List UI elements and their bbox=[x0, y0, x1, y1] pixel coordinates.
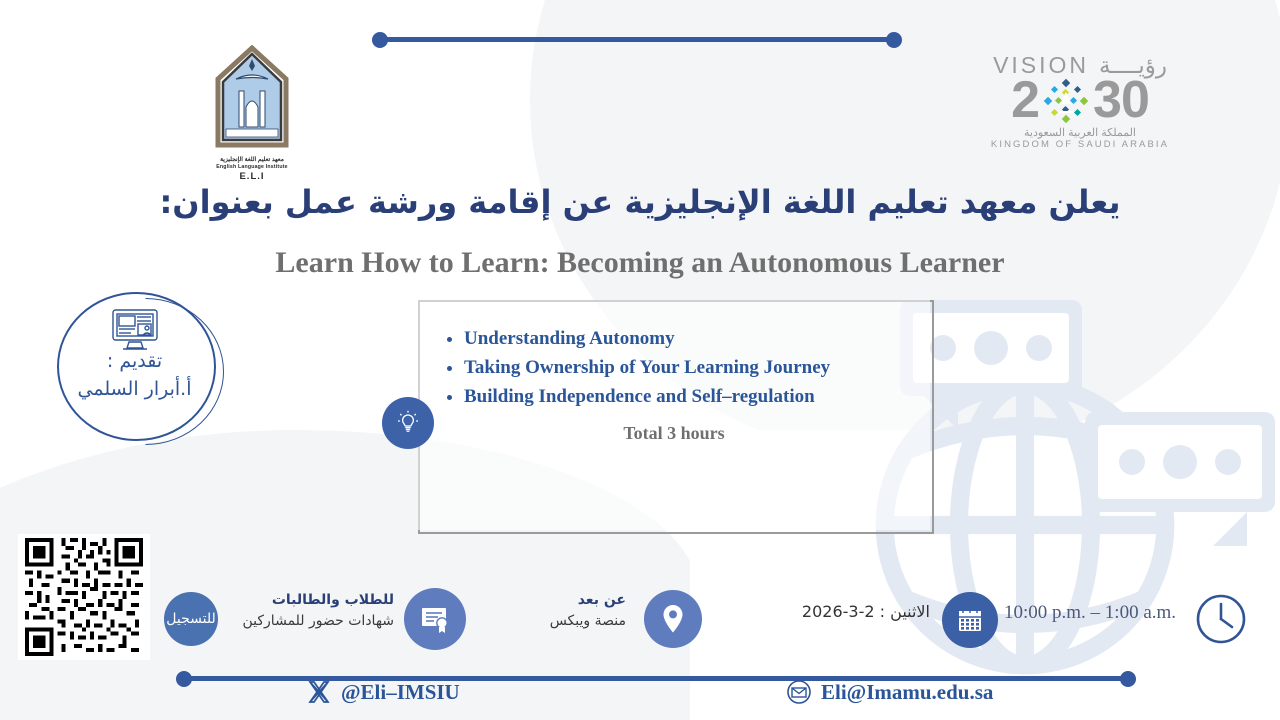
eli-logo-caption: معهد تعليم اللغة الإنجليزية English Lang… bbox=[208, 156, 296, 184]
workshop-title: Learn How to Learn: Becoming an Autonomo… bbox=[0, 246, 1280, 280]
mode-info: عن بعد منصة ويبكس bbox=[516, 590, 626, 632]
envelope-icon bbox=[786, 679, 812, 705]
topics-list: Understanding Autonomy Taking Ownership … bbox=[438, 325, 938, 412]
top-divider-line bbox=[372, 32, 902, 48]
eli-logo: معهد تعليم اللغة الإنجليزية English Lang… bbox=[208, 45, 296, 173]
location-pin-icon bbox=[644, 590, 702, 648]
eli-abbrev: E.L.I bbox=[208, 171, 296, 184]
date-text: الاثنين : 2-3-2026 bbox=[760, 602, 930, 621]
presenter-name: أ.أبرار السلمي bbox=[57, 378, 212, 400]
mode-line-2: منصة ويبكس bbox=[516, 611, 626, 632]
qr-code[interactable] bbox=[18, 534, 150, 660]
vision-2030-logo: VISION رؤيــــة 2 bbox=[975, 52, 1185, 157]
audience-info: للطلاب والطالبات شهادات حضور للمشاركين bbox=[222, 590, 394, 632]
presenter-badge: تقديم : أ.أبرار السلمي bbox=[57, 292, 222, 447]
vision-number-left: 2 bbox=[1011, 76, 1039, 125]
presentation-monitor-icon bbox=[109, 308, 161, 352]
qr-code-image bbox=[22, 538, 146, 656]
time-text: 10:00 p.m. – 1:00 a.m. bbox=[1004, 602, 1189, 624]
footer-divider-dot-right bbox=[1120, 671, 1136, 687]
eli-shield-icon bbox=[212, 45, 292, 150]
x-twitter-icon bbox=[306, 679, 332, 705]
vision-number-right: 30 bbox=[1093, 76, 1149, 125]
registration-badge[interactable]: للتسجيل bbox=[164, 592, 218, 646]
vision-word-english: VISION bbox=[993, 52, 1089, 79]
audience-line-1: للطلاب والطالبات bbox=[222, 590, 394, 611]
presenter-label: تقديم : bbox=[57, 350, 212, 372]
eli-caption-arabic: معهد تعليم اللغة الإنجليزية bbox=[208, 156, 296, 164]
vision-kingdom-arabic: المملكة العربية السعودية bbox=[975, 126, 1185, 139]
workshop-poster: معهد تعليم اللغة الإنجليزية English Lang… bbox=[0, 0, 1280, 720]
mode-line-1: عن بعد bbox=[516, 590, 626, 611]
registration-badge-label: للتسجيل bbox=[166, 611, 215, 627]
certificate-icon bbox=[404, 588, 466, 650]
audience-line-2: شهادات حضور للمشاركين bbox=[222, 611, 394, 632]
email-handle[interactable]: Eli@Imamu.edu.sa bbox=[786, 679, 993, 705]
email-handle-text: Eli@Imamu.edu.sa bbox=[821, 680, 993, 705]
twitter-handle-text: @Eli–IMSIU bbox=[341, 680, 460, 705]
twitter-handle[interactable]: @Eli–IMSIU bbox=[306, 679, 460, 705]
eli-caption-english: English Language Institute bbox=[208, 164, 296, 171]
clock-icon bbox=[1194, 592, 1248, 646]
list-item: Taking Ownership of Your Learning Journe… bbox=[464, 354, 938, 383]
vision-palm-emblem-icon bbox=[1043, 78, 1089, 124]
speech-bubble-watermark-2 bbox=[1085, 412, 1275, 512]
lightbulb-icon bbox=[382, 397, 434, 449]
total-hours-label: Total 3 hours bbox=[418, 423, 930, 444]
calendar-icon bbox=[942, 592, 998, 648]
list-item: Understanding Autonomy bbox=[464, 325, 938, 354]
top-divider-dot-right bbox=[886, 32, 902, 48]
headline-arabic: يعلن معهد تعليم اللغة الإنجليزية عن إقام… bbox=[0, 183, 1280, 221]
list-item: Building Independence and Self–regulatio… bbox=[464, 383, 938, 412]
top-divider-bar bbox=[380, 37, 894, 42]
vision-kingdom-english: KINGDOM OF SAUDI ARABIA bbox=[975, 139, 1185, 150]
